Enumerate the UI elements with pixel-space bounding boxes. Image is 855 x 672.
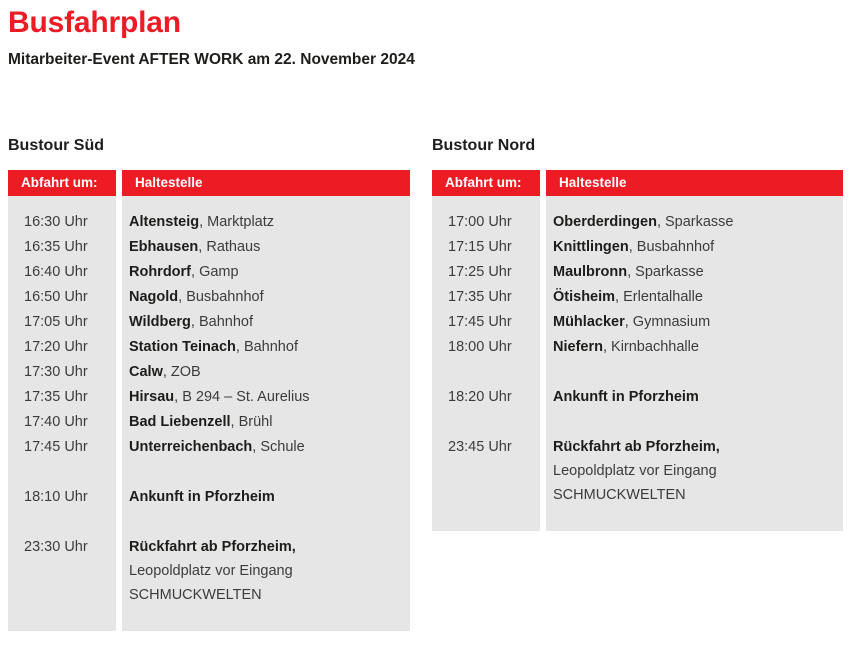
arrival-row: 18:20 UhrAnkunft in Pforzheim bbox=[432, 385, 843, 410]
table-tail bbox=[432, 507, 843, 531]
row-spacer bbox=[8, 460, 410, 485]
table-tail bbox=[8, 607, 410, 631]
row-stop-place: Wildberg bbox=[129, 314, 191, 330]
row-stop-place: Unterreichenbach bbox=[129, 439, 252, 455]
row-stop: Calw, ZOB bbox=[116, 360, 201, 385]
row-stop-place: Ötisheim bbox=[553, 289, 615, 305]
row-stop: Mühlacker, Gymnasium bbox=[540, 310, 710, 335]
column-divider bbox=[116, 196, 122, 631]
row-stop-place: Knittlingen bbox=[553, 239, 629, 255]
row-stop-place: Nagold bbox=[129, 289, 178, 305]
row-time: 17:05 Uhr bbox=[8, 310, 116, 335]
row-stop-place: Bad Liebenzell bbox=[129, 414, 231, 430]
row-time: 16:35 Uhr bbox=[8, 235, 116, 260]
row-stop-place: Calw bbox=[129, 364, 163, 380]
row-stop-detail: , Brühl bbox=[231, 414, 273, 430]
row-stop: Altensteig, Marktplatz bbox=[116, 210, 274, 235]
row-stop-place: Station Teinach bbox=[129, 339, 236, 355]
table-row: 17:35 UhrÖtisheim, Erlentalhalle bbox=[432, 285, 843, 310]
row-stop: Knittlingen, Busbahnhof bbox=[540, 235, 714, 260]
table-body: 16:30 UhrAltensteig, Marktplatz 16:35 Uh… bbox=[8, 196, 410, 631]
row-time: 17:35 Uhr bbox=[8, 385, 116, 410]
row-stop: Ebhausen, Rathaus bbox=[116, 235, 260, 260]
arrival-text: Ankunft in Pforzheim bbox=[129, 489, 275, 505]
table-row: 16:30 UhrAltensteig, Marktplatz bbox=[8, 210, 410, 235]
row-stop-place: Mühlacker bbox=[553, 314, 625, 330]
tour-title-nord: Bustour Nord bbox=[432, 136, 535, 156]
table-row: 17:00 UhrOberderdingen, Sparkasse bbox=[432, 210, 843, 235]
row-time: 18:00 Uhr bbox=[432, 335, 540, 360]
return-time: 23:45 Uhr bbox=[432, 435, 540, 460]
row-stop: Wildberg, Bahnhof bbox=[116, 310, 253, 335]
row-time: 17:45 Uhr bbox=[8, 435, 116, 460]
row-stop: Oberderdingen, Sparkasse bbox=[540, 210, 734, 235]
row-stop-detail: , Rathaus bbox=[198, 239, 260, 255]
page-title: Busfahrplan bbox=[8, 6, 181, 40]
return-row: 23:45 Uhr Rückfahrt ab Pforzheim, Leopol… bbox=[432, 435, 843, 507]
table-row: 18:00 UhrNiefern, Kirnbachhalle bbox=[432, 335, 843, 360]
row-stop-detail: , Schule bbox=[252, 439, 304, 455]
column-header-time: Abfahrt um: bbox=[8, 170, 116, 196]
row-stop-place: Niefern bbox=[553, 339, 603, 355]
table-row: 17:45 UhrUnterreichenbach, Schule bbox=[8, 435, 410, 460]
row-time: 16:50 Uhr bbox=[8, 285, 116, 310]
table-header-row: Abfahrt um: Haltestelle bbox=[432, 170, 843, 196]
row-time: 17:15 Uhr bbox=[432, 235, 540, 260]
row-time: 17:00 Uhr bbox=[432, 210, 540, 235]
arrival-text: Ankunft in Pforzheim bbox=[553, 389, 699, 405]
row-time: 17:30 Uhr bbox=[8, 360, 116, 385]
row-time: 16:40 Uhr bbox=[8, 260, 116, 285]
row-time: 17:35 Uhr bbox=[432, 285, 540, 310]
row-stop-place: Maulbronn bbox=[553, 264, 627, 280]
row-stop-place: Altensteig bbox=[129, 214, 199, 230]
row-stop-detail: , Busbahnhof bbox=[178, 289, 263, 305]
column-divider bbox=[540, 196, 546, 531]
return-label: Rückfahrt ab Pforzheim, Leopoldplatz vor… bbox=[540, 435, 825, 507]
row-time: 16:30 Uhr bbox=[8, 210, 116, 235]
table-row: 16:35 UhrEbhausen, Rathaus bbox=[8, 235, 410, 260]
row-stop-detail: , ZOB bbox=[163, 364, 201, 380]
row-spacer bbox=[432, 360, 843, 385]
row-stop-place: Rohrdorf bbox=[129, 264, 191, 280]
table-row: 17:35 UhrHirsau, B 294 – St. Aurelius bbox=[8, 385, 410, 410]
table-row: 17:30 UhrCalw, ZOB bbox=[8, 360, 410, 385]
return-line2: Leopoldplatz vor Eingang bbox=[553, 459, 825, 483]
row-time: 17:25 Uhr bbox=[432, 260, 540, 285]
table-row: 17:05 UhrWildberg, Bahnhof bbox=[8, 310, 410, 335]
row-stop: Station Teinach, Bahnhof bbox=[116, 335, 298, 360]
row-stop-detail: , Kirnbachhalle bbox=[603, 339, 699, 355]
row-stop: Hirsau, B 294 – St. Aurelius bbox=[116, 385, 310, 410]
column-header-time: Abfahrt um: bbox=[432, 170, 540, 196]
return-line2: Leopoldplatz vor Eingang bbox=[129, 559, 396, 583]
row-stop-detail: , Sparkasse bbox=[657, 214, 734, 230]
row-stop-place: Oberderdingen bbox=[553, 214, 657, 230]
column-header-stop: Haltestelle bbox=[546, 170, 843, 196]
table-header-row: Abfahrt um: Haltestelle bbox=[8, 170, 410, 196]
table-row: 16:50 UhrNagold, Busbahnhof bbox=[8, 285, 410, 310]
row-stop: Ötisheim, Erlentalhalle bbox=[540, 285, 703, 310]
table-body: 17:00 UhrOberderdingen, Sparkasse 17:15 … bbox=[432, 196, 843, 531]
row-time: 17:40 Uhr bbox=[8, 410, 116, 435]
row-stop: Rohrdorf, Gamp bbox=[116, 260, 239, 285]
row-stop-detail: , Bahnhof bbox=[236, 339, 298, 355]
row-stop-detail: , Marktplatz bbox=[199, 214, 274, 230]
arrival-row: 18:10 UhrAnkunft in Pforzheim bbox=[8, 485, 410, 510]
row-stop-detail: , Bahnhof bbox=[191, 314, 253, 330]
row-stop-place: Ebhausen bbox=[129, 239, 198, 255]
table-row: 17:25 UhrMaulbronn, Sparkasse bbox=[432, 260, 843, 285]
row-stop: Bad Liebenzell, Brühl bbox=[116, 410, 272, 435]
row-stop: Unterreichenbach, Schule bbox=[116, 435, 305, 460]
return-text: Rückfahrt ab Pforzheim, bbox=[553, 439, 720, 455]
row-time: 17:45 Uhr bbox=[432, 310, 540, 335]
row-stop: Niefern, Kirnbachhalle bbox=[540, 335, 699, 360]
row-stop-detail: , Gamp bbox=[191, 264, 239, 280]
return-label: Rückfahrt ab Pforzheim, Leopoldplatz vor… bbox=[116, 535, 396, 607]
return-row: 23:30 Uhr Rückfahrt ab Pforzheim, Leopol… bbox=[8, 535, 410, 607]
row-stop-detail: , Sparkasse bbox=[627, 264, 704, 280]
return-line3: SCHMUCKWELTEN bbox=[553, 483, 825, 507]
arrival-time: 18:10 Uhr bbox=[8, 485, 116, 510]
row-stop-place: Hirsau bbox=[129, 389, 174, 405]
tour-title-sued: Bustour Süd bbox=[8, 136, 104, 156]
row-stop-detail: , Busbahnhof bbox=[629, 239, 714, 255]
row-spacer bbox=[8, 510, 410, 535]
row-stop-detail: , Gymnasium bbox=[625, 314, 710, 330]
page-subtitle: Mitarbeiter-Event AFTER WORK am 22. Nove… bbox=[8, 50, 415, 70]
row-stop: Maulbronn, Sparkasse bbox=[540, 260, 704, 285]
table-row: 17:15 UhrKnittlingen, Busbahnhof bbox=[432, 235, 843, 260]
table-row: 17:45 UhrMühlacker, Gymnasium bbox=[432, 310, 843, 335]
table-row: 16:40 UhrRohrdorf, Gamp bbox=[8, 260, 410, 285]
table-row: 17:20 UhrStation Teinach, Bahnhof bbox=[8, 335, 410, 360]
return-text: Rückfahrt ab Pforzheim, bbox=[129, 539, 296, 555]
table-row: 17:40 UhrBad Liebenzell, Brühl bbox=[8, 410, 410, 435]
return-time: 23:30 Uhr bbox=[8, 535, 116, 560]
row-stop-detail: , B 294 – St. Aurelius bbox=[174, 389, 309, 405]
arrival-time: 18:20 Uhr bbox=[432, 385, 540, 410]
timetable-nord: Abfahrt um: Haltestelle 17:00 UhrOberder… bbox=[432, 170, 843, 531]
return-line3: SCHMUCKWELTEN bbox=[129, 583, 396, 607]
arrival-label: Ankunft in Pforzheim bbox=[116, 485, 275, 510]
arrival-label: Ankunft in Pforzheim bbox=[540, 385, 699, 410]
row-stop: Nagold, Busbahnhof bbox=[116, 285, 264, 310]
row-stop-detail: , Erlentalhalle bbox=[615, 289, 703, 305]
timetable-sued: Abfahrt um: Haltestelle 16:30 UhrAltenst… bbox=[8, 170, 410, 631]
column-header-stop: Haltestelle bbox=[122, 170, 410, 196]
row-time: 17:20 Uhr bbox=[8, 335, 116, 360]
row-spacer bbox=[432, 410, 843, 435]
